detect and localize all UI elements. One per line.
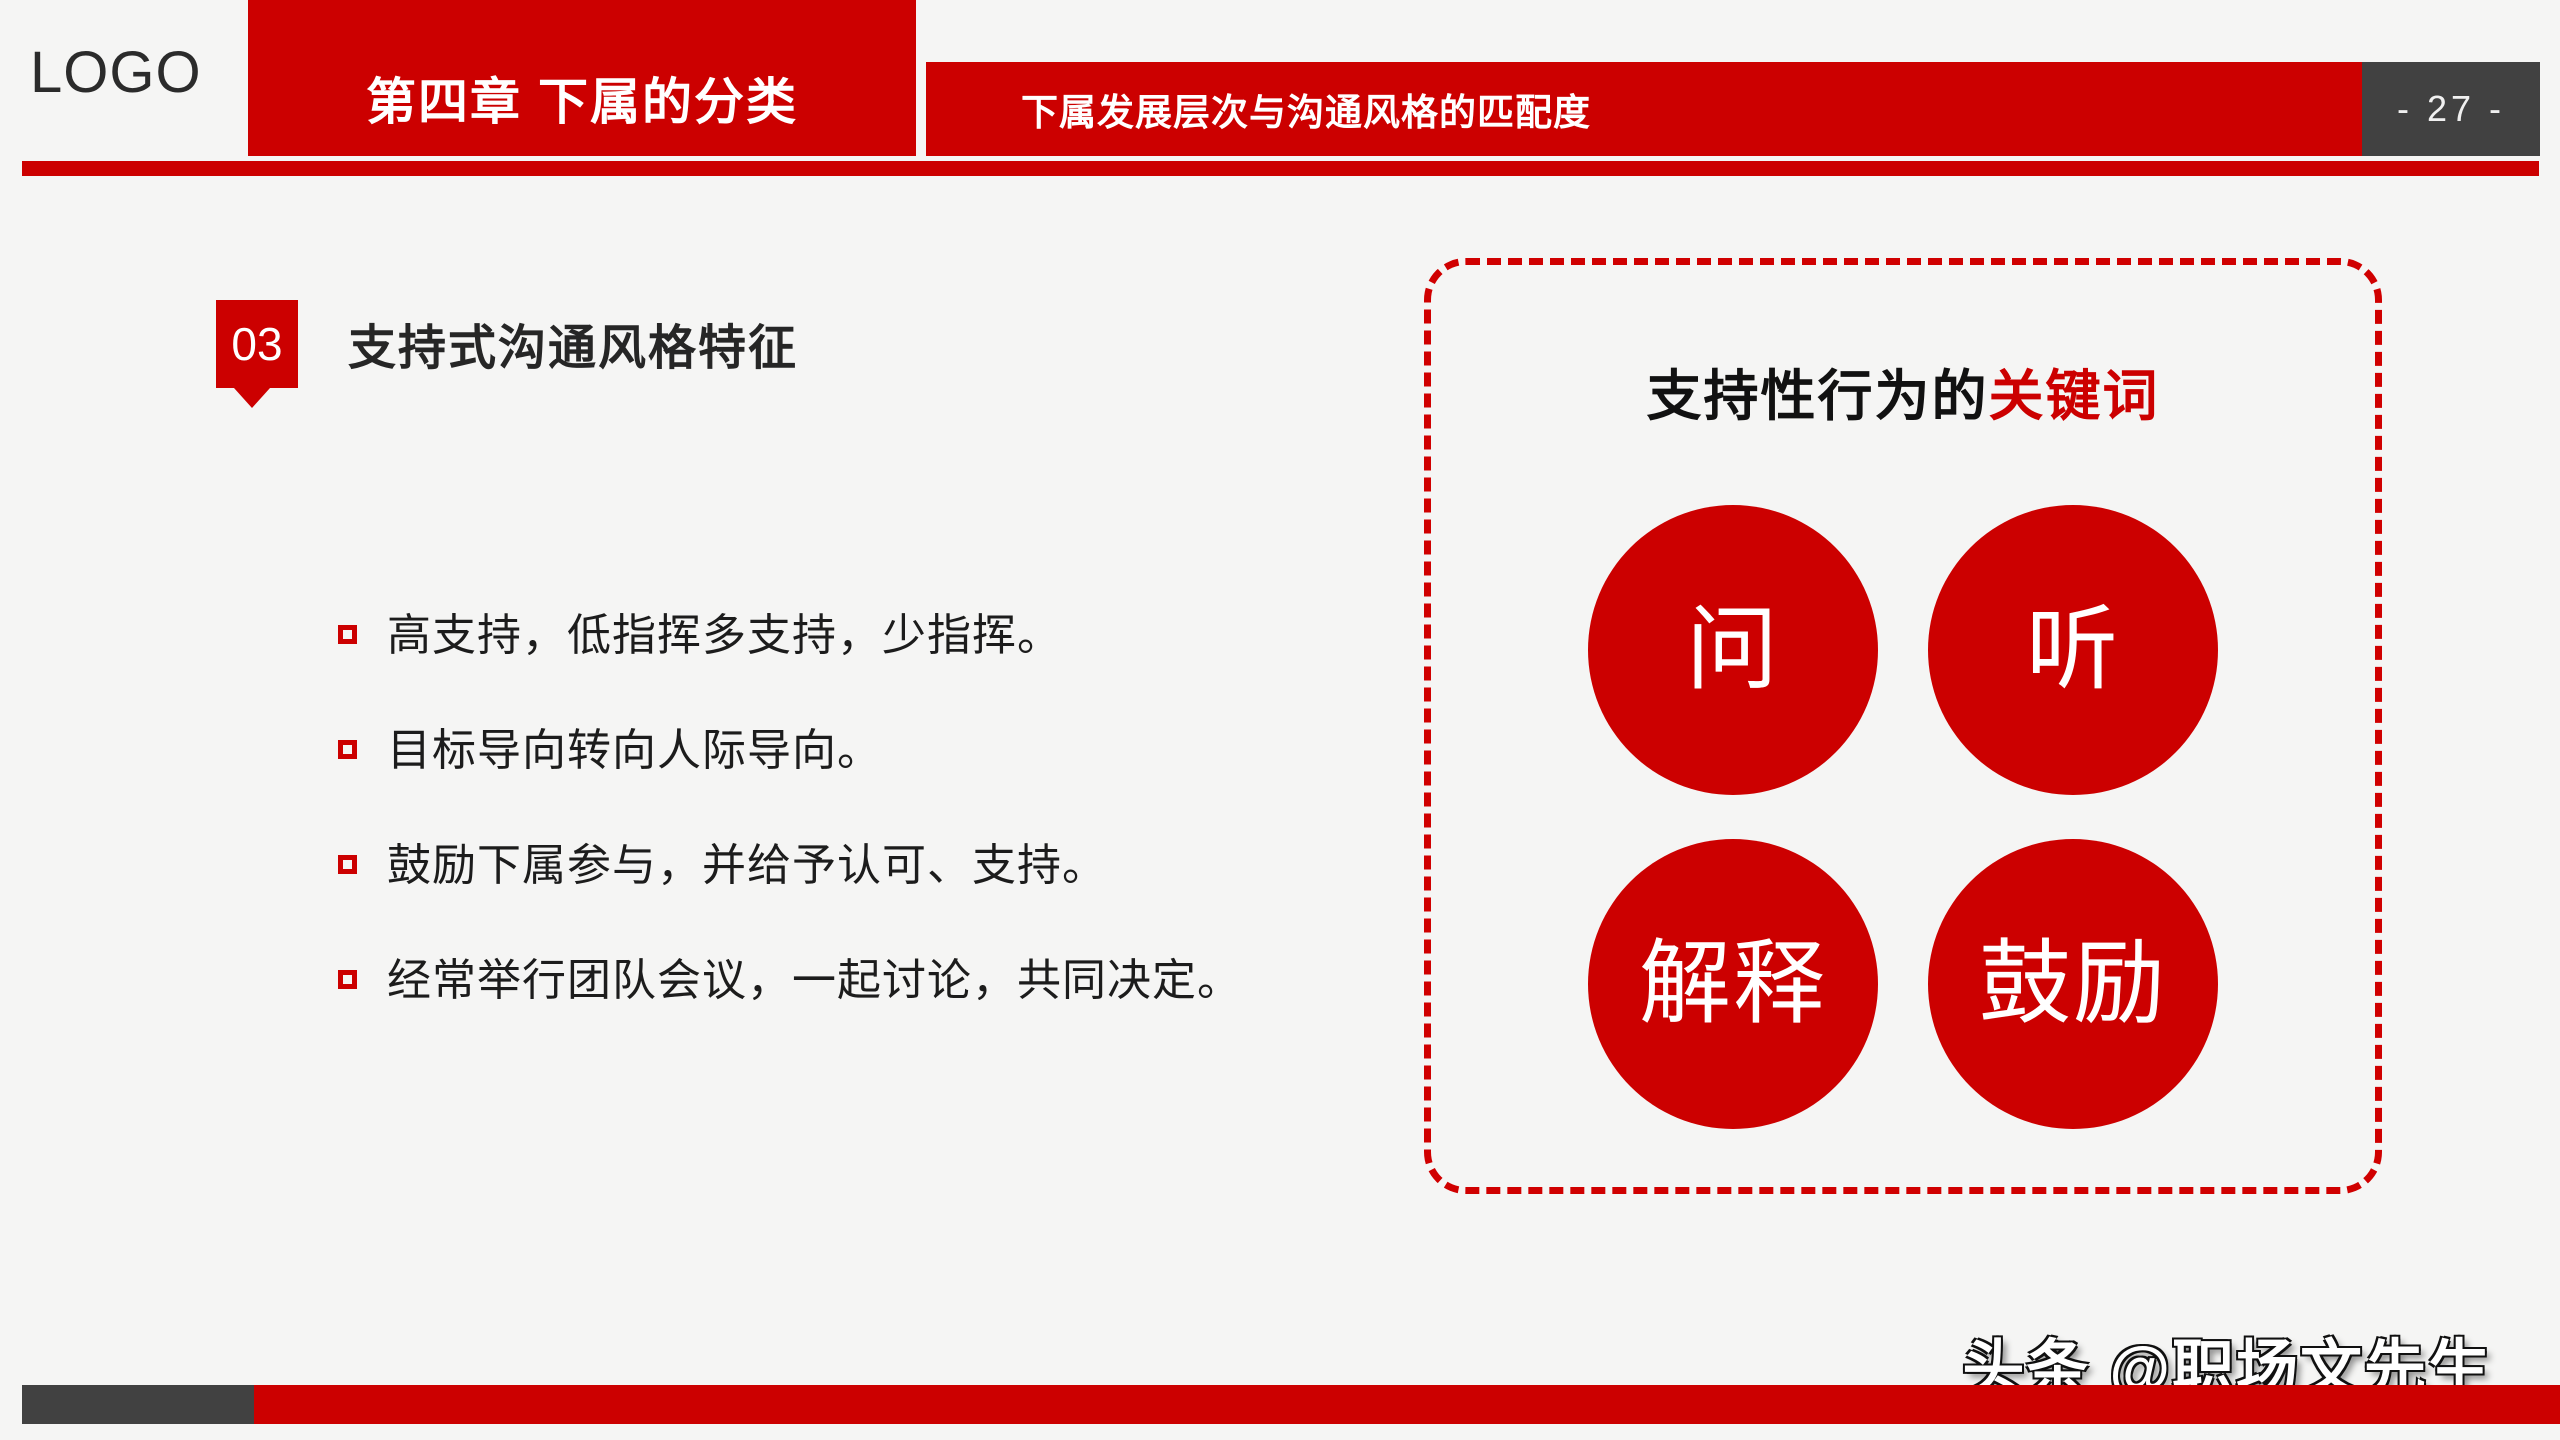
list-item: 高支持，低指挥多支持，少指挥。 bbox=[338, 608, 1458, 663]
square-bullet-icon bbox=[338, 625, 357, 644]
list-item: 鼓励下属参与，并给予认可、支持。 bbox=[338, 838, 1458, 893]
section-badge-pointer-icon bbox=[234, 388, 270, 408]
keyword-circle: 解释 bbox=[1588, 839, 1878, 1129]
header-subtitle-block: 下属发展层次与沟通风格的匹配度 bbox=[926, 62, 2370, 156]
keyword-circle: 鼓励 bbox=[1928, 839, 2218, 1129]
keyword-circle-label: 解释 bbox=[1639, 938, 1827, 1030]
keyword-panel-title-prefix: 支持性行为的 bbox=[1646, 365, 1988, 427]
section-heading: 支持式沟通风格特征 bbox=[348, 308, 798, 378]
keyword-circle-grid: 问 听 解释 鼓励 bbox=[1431, 505, 2375, 1129]
header-chapter-block: 第四章 下属的分类 bbox=[248, 0, 916, 156]
square-bullet-icon bbox=[338, 740, 357, 759]
keyword-circle-label: 鼓励 bbox=[1979, 938, 2167, 1030]
header-subtitle-label: 下属发展层次与沟通风格的匹配度 bbox=[926, 82, 1686, 136]
keyword-panel: 支持性行为的关键词 问 听 解释 鼓励 bbox=[1424, 258, 2382, 1194]
keyword-circle-label: 听 bbox=[2026, 604, 2120, 696]
list-item-label: 高支持，低指挥多支持，少指挥。 bbox=[387, 608, 1458, 663]
section-number-label: 03 bbox=[216, 321, 298, 367]
square-bullet-icon bbox=[338, 855, 357, 874]
list-item-label: 鼓励下属参与，并给予认可、支持。 bbox=[387, 838, 1458, 893]
keyword-circle: 问 bbox=[1588, 505, 1878, 795]
keyword-panel-title-accent: 关键词 bbox=[1989, 365, 2160, 427]
slide-canvas: LOGO 第四章 下属的分类 下属发展层次与沟通风格的匹配度 - 27 - 03… bbox=[0, 0, 2560, 1440]
section-number-badge: 03 bbox=[216, 300, 298, 388]
footer-bar-red bbox=[254, 1385, 2560, 1424]
list-item-label: 经常举行团队会议，一起讨论，共同决定。 bbox=[387, 953, 1458, 1008]
page-number-block: - 27 - bbox=[2362, 62, 2540, 156]
keyword-circle: 听 bbox=[1928, 505, 2218, 795]
square-bullet-icon bbox=[338, 970, 357, 989]
list-item: 经常举行团队会议，一起讨论，共同决定。 bbox=[338, 953, 1458, 1008]
bullet-list: 高支持，低指挥多支持，少指挥。 目标导向转向人际导向。 鼓励下属参与，并给予认可… bbox=[338, 608, 1458, 1068]
keyword-panel-title: 支持性行为的关键词 bbox=[1431, 351, 2375, 431]
page-number-label: - 27 - bbox=[2362, 88, 2540, 130]
list-item: 目标导向转向人际导向。 bbox=[338, 723, 1458, 778]
list-item-label: 目标导向转向人际导向。 bbox=[387, 723, 1458, 778]
footer-bar-dark bbox=[22, 1385, 254, 1424]
header-chapter-label: 第四章 下属的分类 bbox=[248, 62, 916, 134]
header-divider-rule bbox=[22, 161, 2539, 176]
logo: LOGO bbox=[30, 44, 202, 102]
keyword-circle-label: 问 bbox=[1686, 604, 1780, 696]
